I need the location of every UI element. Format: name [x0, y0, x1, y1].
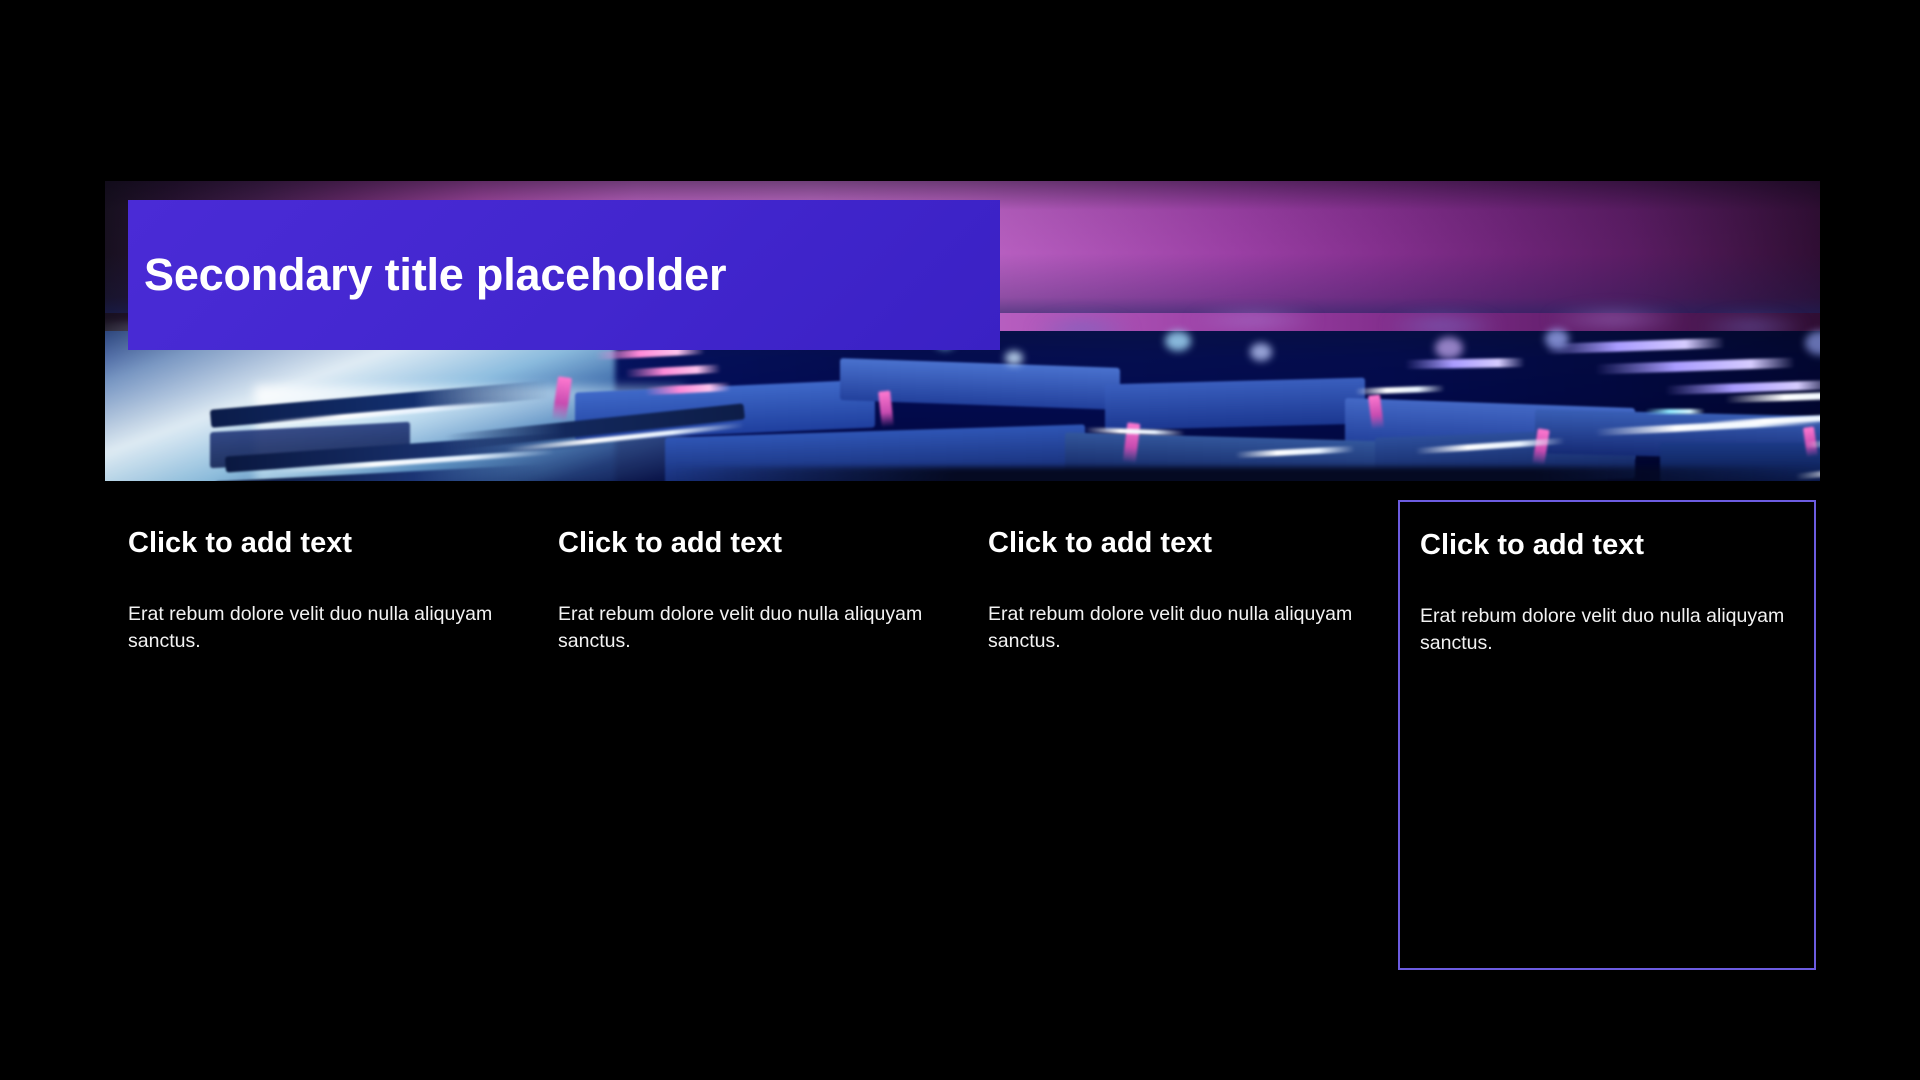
text-column-3[interactable]: Click to add text Erat rebum dolore veli…	[988, 500, 1418, 970]
text-column-4-selected[interactable]: Click to add text Erat rebum dolore veli…	[1398, 500, 1816, 970]
column-4-heading[interactable]: Click to add text	[1420, 528, 1814, 563]
hero-foreground-shadow	[665, 467, 1820, 481]
column-3-heading[interactable]: Click to add text	[988, 526, 1418, 561]
hero-glow-blob	[1435, 337, 1463, 359]
column-2-body[interactable]: Erat rebum dolore velit duo nulla aliquy…	[558, 601, 926, 656]
text-column-1[interactable]: Click to add text Erat rebum dolore veli…	[128, 500, 558, 970]
column-1-heading[interactable]: Click to add text	[128, 526, 558, 561]
text-column-2[interactable]: Click to add text Erat rebum dolore veli…	[558, 500, 988, 970]
hero-glow-blob	[1250, 343, 1272, 361]
text-columns-container: Click to add text Erat rebum dolore veli…	[0, 500, 1920, 970]
hero-glow-blob	[1545, 329, 1569, 349]
column-2-heading[interactable]: Click to add text	[558, 526, 988, 561]
column-1-body[interactable]: Erat rebum dolore velit duo nulla aliquy…	[128, 601, 496, 656]
secondary-title-text: Secondary title placeholder	[128, 249, 726, 301]
hero-glow-streak	[1645, 409, 1705, 414]
slide-canvas[interactable]: Secondary title placeholder Click to add…	[0, 0, 1920, 1080]
column-4-body[interactable]: Erat rebum dolore velit duo nulla aliquy…	[1420, 603, 1788, 658]
hero-slab	[1105, 378, 1365, 431]
hero-glow-blob	[1165, 331, 1191, 351]
column-3-body[interactable]: Erat rebum dolore velit duo nulla aliquy…	[988, 601, 1356, 656]
hero-glow-blob	[1005, 351, 1023, 365]
secondary-title-placeholder[interactable]: Secondary title placeholder	[128, 200, 1000, 350]
